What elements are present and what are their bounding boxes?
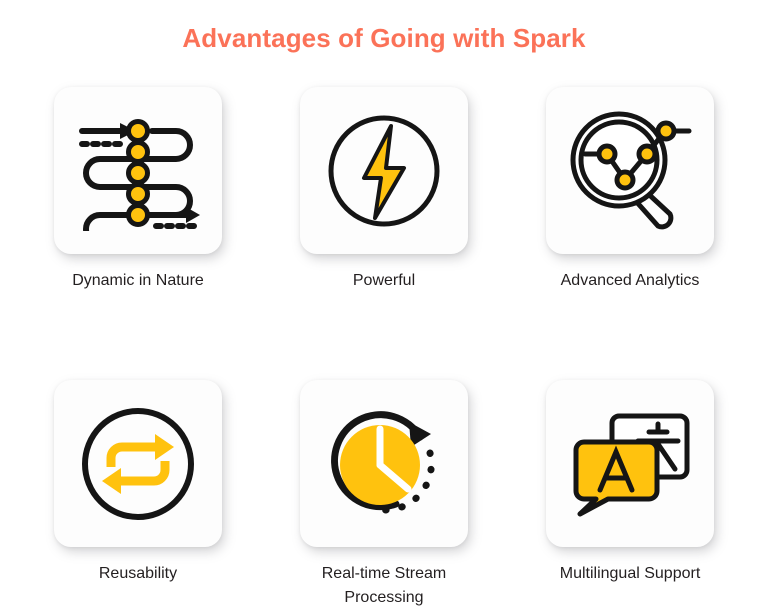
path-node-group — [129, 121, 148, 224]
feature-label: Reusability — [99, 562, 177, 586]
serpentine-path-icon — [74, 111, 202, 231]
feature-realtime-stream-processing[interactable]: Real-time Stream Processing — [300, 380, 468, 610]
magnifier-line-chart-icon — [567, 110, 693, 232]
page-title: Advantages of Going with Spark — [0, 22, 768, 54]
repeat-arrows-circle-icon — [79, 405, 197, 523]
feature-label: Powerful — [353, 269, 415, 293]
clock-refresh-icon — [323, 403, 445, 525]
feature-dynamic-in-nature[interactable]: Dynamic in Nature — [54, 87, 222, 293]
feature-reusability[interactable]: Reusability — [54, 380, 222, 610]
feature-label: Real-time Stream Processing — [300, 562, 468, 610]
icon-card[interactable] — [300, 87, 468, 254]
feature-powerful[interactable]: Powerful — [300, 87, 468, 293]
advantages-infographic: Advantages of Going with Spark — [0, 0, 768, 585]
feature-row-top: Dynamic in Nature Powerful — [0, 87, 768, 293]
icon-card[interactable] — [54, 380, 222, 547]
feature-label: Multilingual Support — [560, 562, 701, 586]
feature-row-bottom: Reusability — [0, 380, 768, 610]
feature-label: Dynamic in Nature — [72, 269, 204, 293]
icon-card[interactable] — [546, 380, 714, 547]
feature-multilingual-support[interactable]: Multilingual Support — [546, 380, 714, 610]
lightning-bolt-circle-icon — [325, 112, 443, 230]
icon-card[interactable] — [546, 87, 714, 254]
feature-label: Advanced Analytics — [561, 269, 700, 293]
icon-card[interactable] — [54, 87, 222, 254]
front-speech-bubble — [576, 442, 657, 514]
bolt-shape — [364, 126, 404, 218]
translation-speech-bubbles-icon — [570, 408, 690, 520]
icon-card[interactable] — [300, 380, 468, 547]
feature-advanced-analytics[interactable]: Advanced Analytics — [546, 87, 714, 293]
feature-grid: Dynamic in Nature Powerful — [0, 87, 768, 610]
